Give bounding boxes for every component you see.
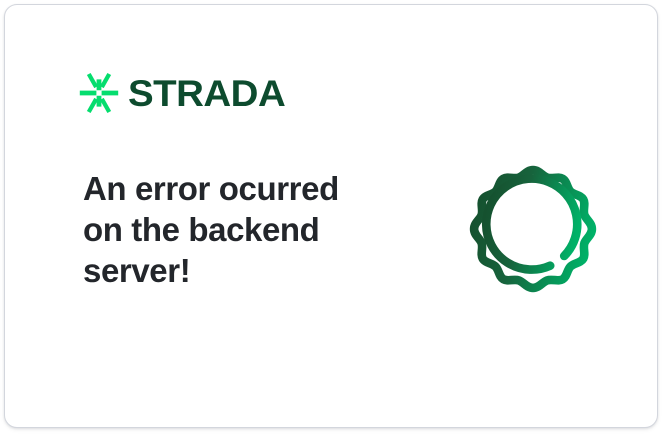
brand-lockup: STRADA [79, 73, 279, 113]
error-page: STRADA An error ocurred on the backend s… [0, 0, 666, 436]
strada-asterisk-icon [79, 73, 119, 113]
brand-wordmark: STRADA [128, 75, 285, 112]
gear-icon [446, 142, 620, 316]
error-headline: An error ocurred on the backend server! [83, 168, 383, 291]
error-card: STRADA An error ocurred on the backend s… [4, 4, 658, 428]
